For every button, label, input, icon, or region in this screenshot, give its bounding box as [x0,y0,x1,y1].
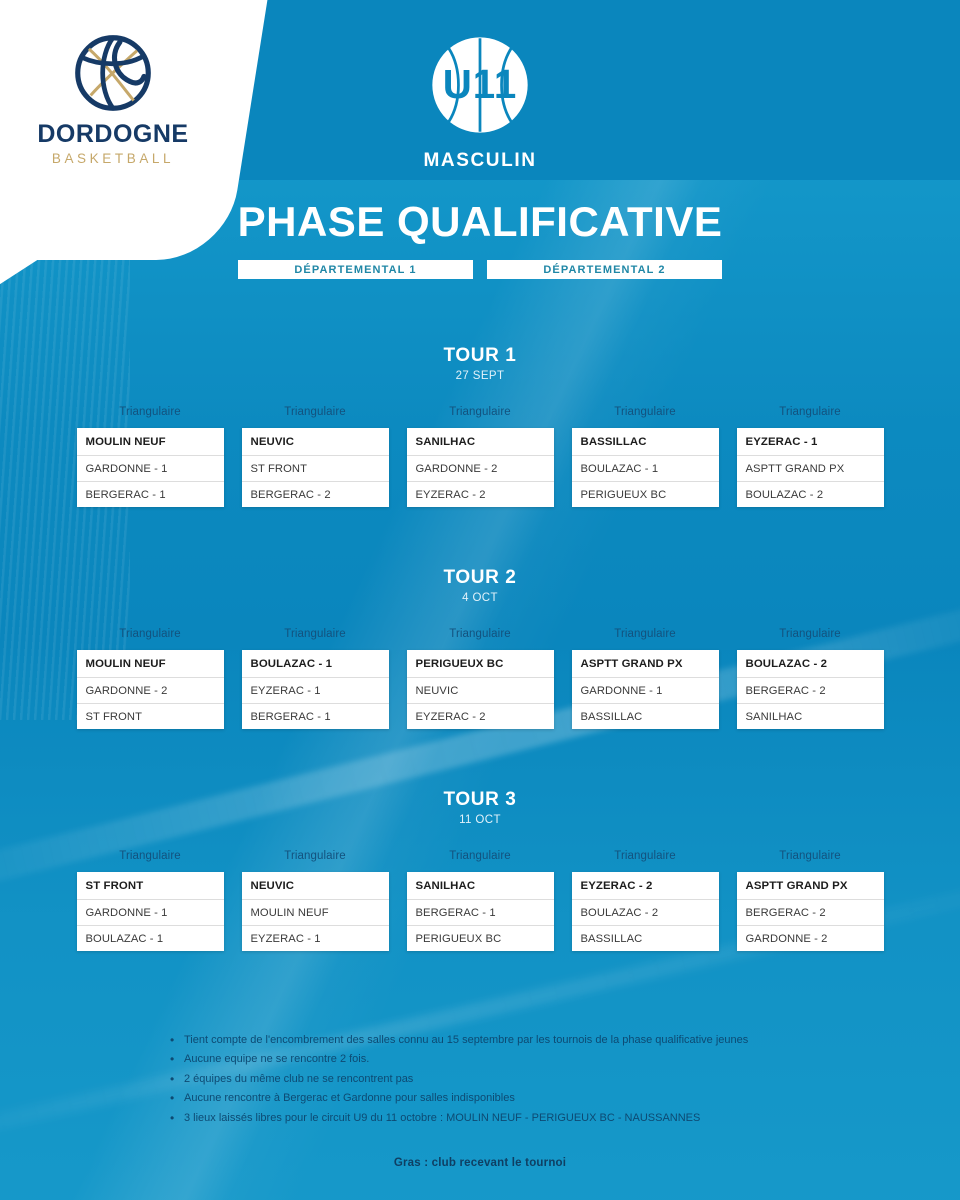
chip-departemental-2[interactable]: DÉPARTEMENTAL 2 [487,260,722,279]
poster: DORDOGNE BASKETBALL U11 MASCULIN PHASE Q… [0,0,960,1200]
group-item: Triangulaire NEUVIC MOULIN NEUF EYZERAC … [242,850,389,951]
bullet-icon: • [170,1110,184,1127]
group-card[interactable]: BASSILLAC BOULAZAC - 1 PERIGUEUX BC [572,428,719,507]
group-format-label: Triangulaire [572,850,719,862]
team-row: GARDONNE - 1 [77,899,224,925]
group-format-label: Triangulaire [242,850,389,862]
group-format-label: Triangulaire [737,628,884,640]
host-team: BOULAZAC - 2 [737,650,884,677]
host-team: EYZERAC - 2 [572,872,719,899]
host-team: ASPTT GRAND PX [737,872,884,899]
group-item: Triangulaire SANILHAC GARDONNE - 2 EYZER… [407,406,554,507]
group-item: Triangulaire PERIGUEUX BC NEUVIC EYZERAC… [407,628,554,729]
team-row: BOULAZAC - 2 [572,899,719,925]
team-row: BOULAZAC - 2 [737,481,884,507]
tour-header: TOUR 3 11 OCT [0,789,960,826]
team-row: PERIGUEUX BC [407,925,554,951]
host-team: BASSILLAC [572,428,719,455]
note-text: Tient compte de l'encombrement des salle… [184,1032,748,1049]
group-item: Triangulaire EYZERAC - 1 ASPTT GRAND PX … [737,406,884,507]
tour-date: 4 OCT [0,592,960,604]
tour-date: 27 SEPT [0,370,960,382]
team-row: NEUVIC [407,677,554,703]
group-format-label: Triangulaire [77,406,224,418]
team-row: BASSILLAC [572,703,719,729]
tour-header: TOUR 1 27 SEPT [0,345,960,382]
group-card[interactable]: EYZERAC - 1 ASPTT GRAND PX BOULAZAC - 2 [737,428,884,507]
group-card[interactable]: SANILHAC GARDONNE - 2 EYZERAC - 2 [407,428,554,507]
group-card[interactable]: BOULAZAC - 1 EYZERAC - 1 BERGERAC - 1 [242,650,389,729]
basketball-icon [70,30,156,116]
group-format-label: Triangulaire [242,406,389,418]
note-text: 2 équipes du même club ne se rencontrent… [184,1071,413,1088]
group-item: Triangulaire MOULIN NEUF GARDONNE - 1 BE… [77,406,224,507]
group-item: Triangulaire SANILHAC BERGERAC - 1 PERIG… [407,850,554,951]
host-team: ASPTT GRAND PX [572,650,719,677]
bullet-icon: • [170,1032,184,1049]
group-card[interactable]: MOULIN NEUF GARDONNE - 2 ST FRONT [77,650,224,729]
team-row: BOULAZAC - 1 [77,925,224,951]
tour-date: 11 OCT [0,814,960,826]
host-team: ST FRONT [77,872,224,899]
tour-section-3: TOUR 3 11 OCT Triangulaire ST FRONT GARD… [0,789,960,951]
page-title: PHASE QUALIFICATIVE [0,198,960,246]
host-team: SANILHAC [407,428,554,455]
note-item: • 3 lieux laissés libres pour le circuit… [170,1110,870,1127]
note-item: • 2 équipes du même club ne se rencontre… [170,1071,870,1088]
tour-header: TOUR 2 4 OCT [0,567,960,604]
group-format-label: Triangulaire [407,850,554,862]
group-format-label: Triangulaire [77,850,224,862]
chip-departemental-1[interactable]: DÉPARTEMENTAL 1 [238,260,473,279]
group-item: Triangulaire ASPTT GRAND PX BERGERAC - 2… [737,850,884,951]
group-format-label: Triangulaire [572,406,719,418]
group-item: Triangulaire BOULAZAC - 1 EYZERAC - 1 BE… [242,628,389,729]
group-item: Triangulaire EYZERAC - 2 BOULAZAC - 2 BA… [572,850,719,951]
team-row: EYZERAC - 1 [242,677,389,703]
group-item: Triangulaire ST FRONT GARDONNE - 1 BOULA… [77,850,224,951]
legend-note: Gras : club recevant le tournoi [0,1157,960,1169]
group-item: Triangulaire NEUVIC ST FRONT BERGERAC - … [242,406,389,507]
host-team: PERIGUEUX BC [407,650,554,677]
group-card[interactable]: ASPTT GRAND PX GARDONNE - 1 BASSILLAC [572,650,719,729]
host-team: SANILHAC [407,872,554,899]
team-row: MOULIN NEUF [242,899,389,925]
host-team: EYZERAC - 1 [737,428,884,455]
group-format-label: Triangulaire [407,406,554,418]
group-card[interactable]: ASPTT GRAND PX BERGERAC - 2 GARDONNE - 2 [737,872,884,951]
host-team: MOULIN NEUF [77,650,224,677]
team-row: BERGERAC - 2 [242,481,389,507]
group-item: Triangulaire ASPTT GRAND PX GARDONNE - 1… [572,628,719,729]
team-row: BERGERAC - 1 [242,703,389,729]
team-row: EYZERAC - 2 [407,703,554,729]
team-row: ST FRONT [77,703,224,729]
group-card[interactable]: SANILHAC BERGERAC - 1 PERIGUEUX BC [407,872,554,951]
group-card[interactable]: MOULIN NEUF GARDONNE - 1 BERGERAC - 1 [77,428,224,507]
team-row: BOULAZAC - 1 [572,455,719,481]
host-team: MOULIN NEUF [77,428,224,455]
note-item: • Aucune equipe ne se rencontre 2 fois. [170,1051,870,1068]
tour-section-2: TOUR 2 4 OCT Triangulaire MOULIN NEUF GA… [0,567,960,729]
group-format-label: Triangulaire [77,628,224,640]
team-row: PERIGUEUX BC [572,481,719,507]
group-card[interactable]: NEUVIC MOULIN NEUF EYZERAC - 1 [242,872,389,951]
group-card[interactable]: PERIGUEUX BC NEUVIC EYZERAC - 2 [407,650,554,729]
team-row: GARDONNE - 2 [407,455,554,481]
group-item: Triangulaire MOULIN NEUF GARDONNE - 2 ST… [77,628,224,729]
note-text: Aucune equipe ne se rencontre 2 fois. [184,1051,369,1068]
brand-logo: DORDOGNE BASKETBALL [18,30,208,166]
group-item: Triangulaire BASSILLAC BOULAZAC - 1 PERI… [572,406,719,507]
group-list: Triangulaire MOULIN NEUF GARDONNE - 1 BE… [0,406,960,507]
team-row: BERGERAC - 1 [77,481,224,507]
tour-section-1: TOUR 1 27 SEPT Triangulaire MOULIN NEUF … [0,345,960,507]
team-row: GARDONNE - 2 [77,677,224,703]
team-row: SANILHAC [737,703,884,729]
group-format-label: Triangulaire [737,406,884,418]
note-item: • Aucune rencontre à Bergerac et Gardonn… [170,1090,870,1107]
tour-title: TOUR 2 [0,567,960,589]
group-format-label: Triangulaire [572,628,719,640]
team-row: ASPTT GRAND PX [737,455,884,481]
tour-title: TOUR 1 [0,345,960,367]
host-team: BOULAZAC - 1 [242,650,389,677]
note-item: • Tient compte de l'encombrement des sal… [170,1032,870,1049]
team-row: BERGERAC - 2 [737,899,884,925]
group-list: Triangulaire ST FRONT GARDONNE - 1 BOULA… [0,850,960,951]
host-team: NEUVIC [242,428,389,455]
note-text: Aucune rencontre à Bergerac et Gardonne … [184,1090,515,1107]
bullet-icon: • [170,1051,184,1068]
group-card[interactable]: EYZERAC - 2 BOULAZAC - 2 BASSILLAC [572,872,719,951]
notes-list: • Tient compte de l'encombrement des sal… [170,1032,870,1129]
tour-title: TOUR 3 [0,789,960,811]
group-card[interactable]: NEUVIC ST FRONT BERGERAC - 2 [242,428,389,507]
team-row: EYZERAC - 2 [407,481,554,507]
team-row: GARDONNE - 1 [572,677,719,703]
group-format-label: Triangulaire [737,850,884,862]
u11-basketball-badge-icon: U11 [425,30,535,140]
team-row: GARDONNE - 1 [77,455,224,481]
note-text: 3 lieux laissés libres pour le circuit U… [184,1110,700,1127]
bullet-icon: • [170,1090,184,1107]
team-row: BERGERAC - 1 [407,899,554,925]
team-row: EYZERAC - 1 [242,925,389,951]
group-format-label: Triangulaire [242,628,389,640]
group-format-label: Triangulaire [407,628,554,640]
group-list: Triangulaire MOULIN NEUF GARDONNE - 2 ST… [0,628,960,729]
bullet-icon: • [170,1071,184,1088]
team-row: BERGERAC - 2 [737,677,884,703]
team-row: ST FRONT [242,455,389,481]
brand-subtitle: BASKETBALL [18,151,208,166]
team-row: BASSILLAC [572,925,719,951]
brand-name: DORDOGNE [18,122,208,147]
group-card[interactable]: BOULAZAC - 2 BERGERAC - 2 SANILHAC [737,650,884,729]
team-row: GARDONNE - 2 [737,925,884,951]
host-team: NEUVIC [242,872,389,899]
group-card[interactable]: ST FRONT GARDONNE - 1 BOULAZAC - 1 [77,872,224,951]
department-chips: DÉPARTEMENTAL 1 DÉPARTEMENTAL 2 [0,260,960,279]
group-item: Triangulaire BOULAZAC - 2 BERGERAC - 2 S… [737,628,884,729]
